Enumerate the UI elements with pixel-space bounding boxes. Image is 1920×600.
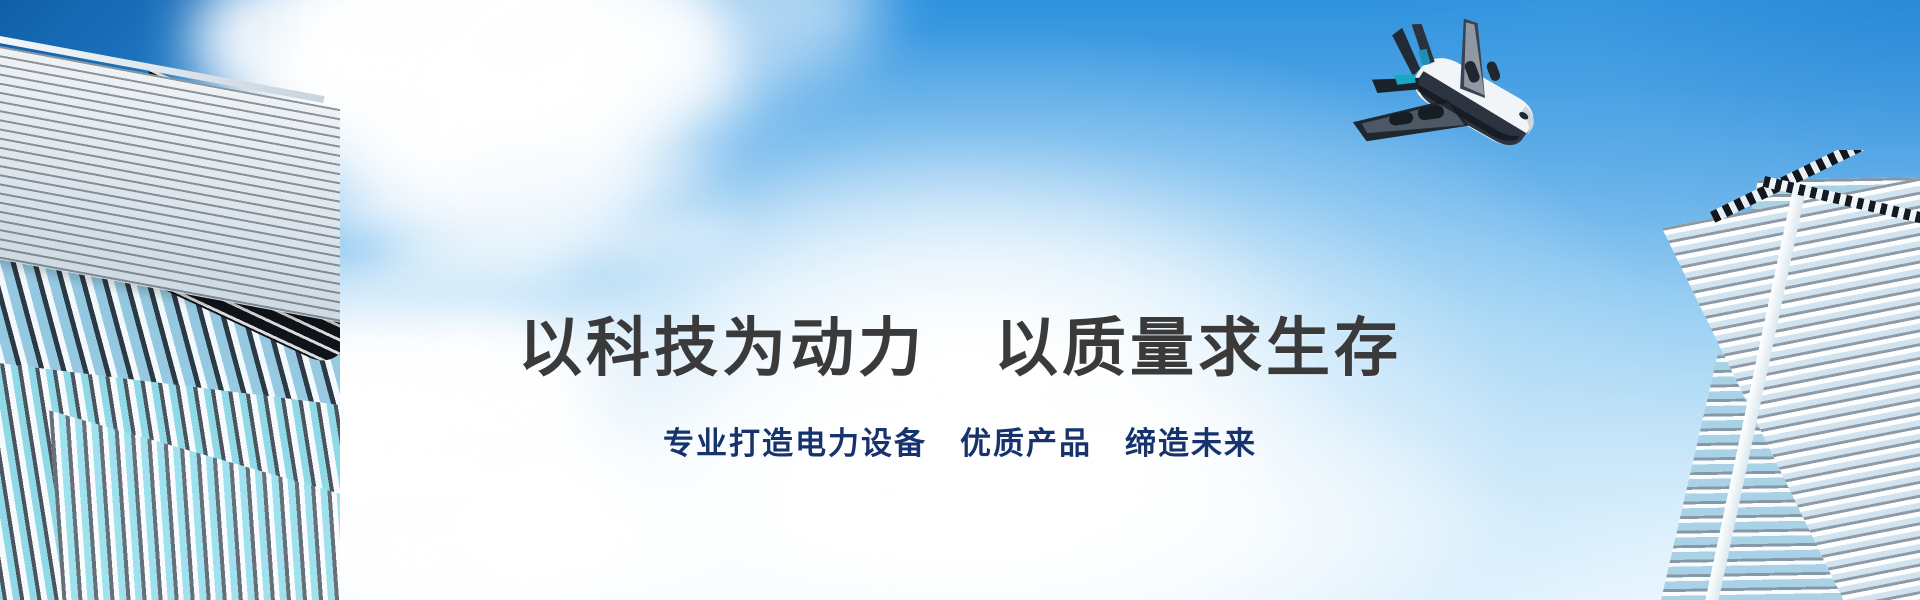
- hero-banner: 以科技为动力 以质量求生存 专业打造电力设备 优质产品 缔造未来: [0, 0, 1920, 600]
- banner-headline: 以科技为动力 以质量求生存: [0, 312, 1920, 386]
- banner-subheadline: 专业打造电力设备 优质产品 缔造未来: [0, 425, 1920, 462]
- skyscraper-left: [0, 0, 340, 600]
- airplane-icon: [1352, 16, 1548, 198]
